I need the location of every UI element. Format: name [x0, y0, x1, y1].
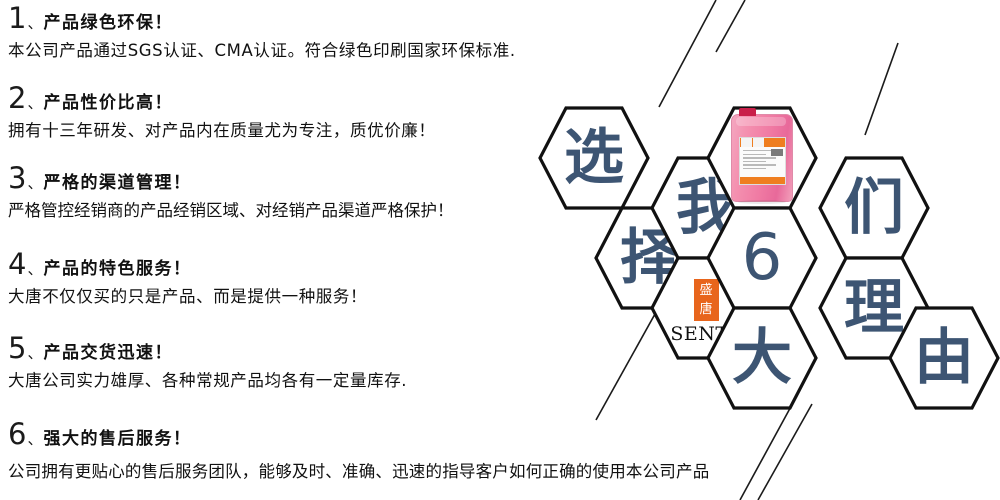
- feature-body: 严格管控经销商的产品经销区域、对经销产品渠道严格保护！: [8, 197, 454, 221]
- logo-mark-char-bottom: 唐: [699, 303, 712, 316]
- hex-cell-da: 大: [706, 306, 818, 410]
- hexagon-outline: [706, 106, 818, 210]
- hexagon-outline: [818, 156, 930, 260]
- logo-wordmark: SENTA: [670, 323, 741, 345]
- label-header-bar: [740, 138, 785, 147]
- feature-item: 6 、 强大的售后服务！: [8, 420, 191, 449]
- jerrycan-cap: [739, 108, 756, 116]
- feature-separator: 、: [27, 172, 42, 193]
- feature-heading: 2 、 产品性价比高！: [8, 84, 436, 113]
- hexagon-outline: [888, 306, 1000, 410]
- logo-mark-senta: 盛 唐: [694, 279, 719, 321]
- feature-title: 严格的渠道管理！: [43, 168, 191, 193]
- feature-item: 5 、 产品交货迅速！ 大唐公司实力雄厚、各种常规产品均各有一定量库存.: [8, 334, 407, 391]
- feature-number: 3: [8, 164, 26, 193]
- feature-item: 2 、 产品性价比高！ 拥有十三年研发、对产品内在质量尤为专注，质优价廉！: [8, 84, 436, 141]
- feature-list: 1 、 产品绿色环保！ 本公司产品通过SGS认证、CMA认证。符合绿色印刷国家环…: [0, 0, 640, 500]
- feature-heading: 3 、 严格的渠道管理！: [8, 164, 454, 193]
- feature-item: 3 、 严格的渠道管理！ 严格管控经销商的产品经销区域、对经销产品渠道严格保护！: [8, 164, 454, 221]
- feature-title: 产品的特色服务！: [43, 254, 191, 279]
- hex-cell-logo: 盛 唐 SENTA: [650, 256, 762, 360]
- label-footer-bar: [740, 177, 785, 184]
- hexagon-outline: [650, 156, 762, 260]
- hex-label-da: 大: [706, 306, 818, 410]
- jerrycan-handle: [736, 117, 786, 126]
- label-text-lines: [740, 147, 785, 169]
- hex-label-six: 6: [706, 206, 818, 310]
- jerrycan-label: [739, 137, 786, 185]
- product-image-jerrycan: [706, 106, 818, 210]
- label-weight-badge: [771, 149, 783, 156]
- hex-label-wo: 我: [650, 156, 762, 260]
- feature-title: 产品交货迅速！: [43, 338, 173, 363]
- deco-line-6: [758, 404, 812, 500]
- feature-number: 6: [8, 420, 26, 449]
- feature-item: 4 、 产品的特色服务！ 大唐不仅仅买的只是产品、而是提供一种服务！: [8, 250, 367, 307]
- feature-heading: 1 、 产品绿色环保！: [8, 4, 516, 33]
- feature-number: 5: [8, 334, 26, 363]
- deco-line-1: [659, 0, 716, 107]
- feature-heading: 5 、 产品交货迅速！: [8, 334, 407, 363]
- company-logo: 盛 唐 SENTA: [650, 256, 762, 360]
- hex-label-men: 们: [818, 156, 930, 260]
- hex-label-you: 由: [888, 306, 1000, 410]
- jerrycan-shadow: [738, 200, 786, 204]
- hexagon-outline: [706, 306, 818, 410]
- feature-number: 2: [8, 84, 26, 113]
- feature-separator: 、: [27, 342, 42, 363]
- hexagon-outline: [650, 256, 762, 360]
- feature-separator: 、: [27, 258, 42, 279]
- feature-number: 4: [8, 250, 26, 279]
- feature-title: 强大的售后服务！: [43, 424, 191, 449]
- jerrycan-body: [731, 114, 793, 202]
- feature-body: 大唐公司实力雄厚、各种常规产品均各有一定量库存.: [8, 367, 407, 391]
- feature-title: 产品绿色环保！: [43, 8, 173, 33]
- feature-body: 拥有十三年研发、对产品内在质量尤为专注，质优价廉！: [8, 117, 436, 141]
- feature-separator: 、: [27, 428, 42, 449]
- feature-separator: 、: [27, 92, 42, 113]
- feature-body-last: 公司拥有更贴心的售后服务团队，能够及时、准确、迅速的指导客户如何正确的使用本公司…: [8, 458, 1000, 482]
- hex-cell-six: 6: [706, 206, 818, 310]
- hex-cell-wo: 我: [650, 156, 762, 260]
- deco-line-3: [865, 43, 898, 135]
- feature-title: 产品性价比高！: [43, 88, 173, 113]
- hexagon-outline: [818, 256, 930, 360]
- feature-item: 1 、 产品绿色环保！ 本公司产品通过SGS认证、CMA认证。符合绿色印刷国家环…: [8, 4, 516, 61]
- feature-heading: 4 、 产品的特色服务！: [8, 250, 367, 279]
- hex-cell-li: 理: [818, 256, 930, 360]
- hex-label-li: 理: [818, 256, 930, 360]
- feature-number: 1: [8, 4, 26, 33]
- logo-mark-char-top: 盛: [699, 284, 712, 297]
- hex-cell-men: 们: [818, 156, 930, 260]
- feature-heading: 6 、 强大的售后服务！: [8, 420, 191, 449]
- feature-body: 大唐不仅仅买的只是产品、而是提供一种服务！: [8, 283, 367, 307]
- deco-line-5: [740, 390, 800, 500]
- hex-cell-you: 由: [888, 306, 1000, 410]
- hex-cell-product: [706, 106, 818, 210]
- deco-line-2: [716, 0, 745, 52]
- feature-body: 本公司产品通过SGS认证、CMA认证。符合绿色印刷国家环保标准.: [8, 37, 516, 61]
- hexagon-outline: [706, 206, 818, 310]
- feature-separator: 、: [27, 12, 42, 33]
